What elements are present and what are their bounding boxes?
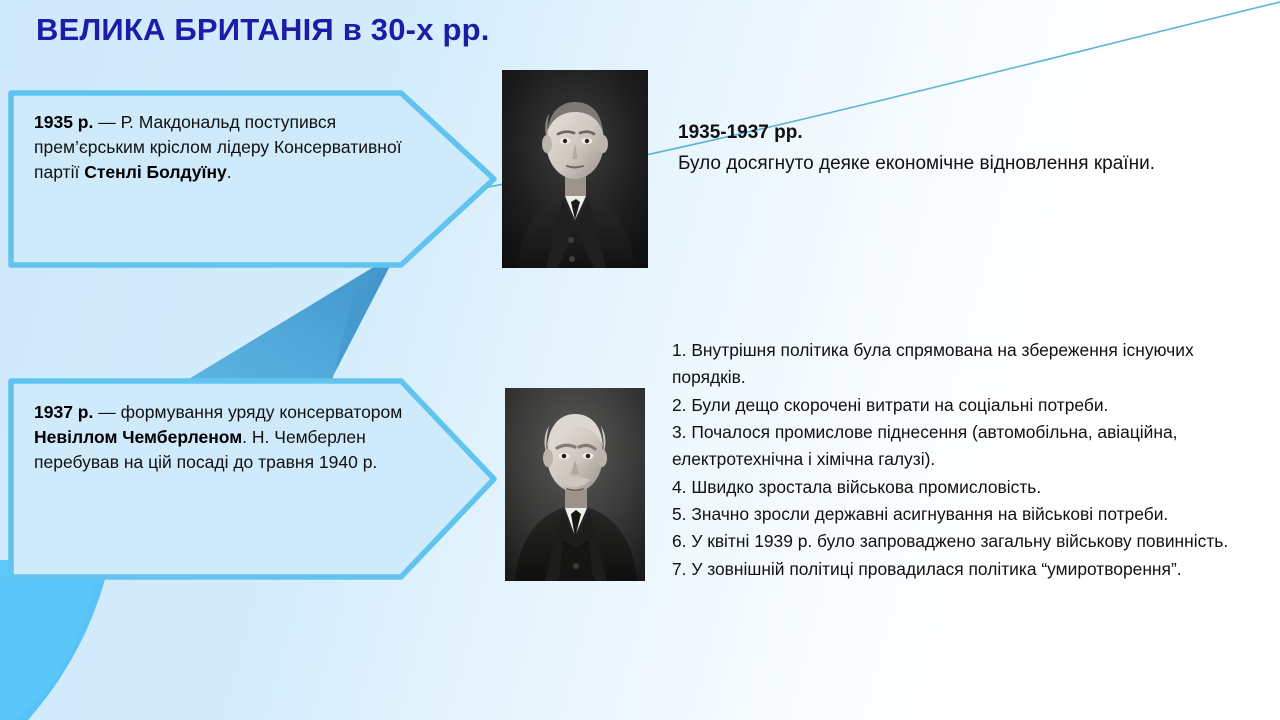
callout-1937[interactable]: 1937 р. — формування уряду консерватором… — [8, 378, 498, 580]
callout-1937-tail: . — [242, 427, 247, 447]
callout-1937-year: 1937 р. — [34, 402, 93, 422]
callout-1935-bold-name: Стенлі Болдуїну — [84, 162, 227, 182]
portrait-stanley-baldwin-image — [502, 70, 648, 268]
swoosh-bottom-left-2 — [0, 575, 96, 720]
portrait-neville-chamberlain-image — [505, 388, 645, 581]
list-item: 5. Значно зросли державні асигнування на… — [672, 501, 1272, 528]
callout-1937-text: 1937 р. — формування уряду консерватором… — [34, 400, 414, 475]
list-item: 1. Внутрішня політика була спрямована на… — [672, 337, 1272, 392]
list-item: 6. У квітні 1939 р. було запроваджено за… — [672, 528, 1272, 555]
callout-1937-dash: — — [98, 402, 116, 422]
right-heading-block: 1935-1937 рр. Було досягнуто деяке еконо… — [678, 118, 1258, 180]
portrait-neville-chamberlain — [505, 388, 645, 581]
slide-canvas: ВЕЛИКА БРИТАНІЯ в 30-х рр. 1935 р. — Р. … — [0, 0, 1280, 720]
callout-1935-dash: — — [98, 112, 116, 132]
callout-1935[interactable]: 1935 р. — Р. Макдональд поступився прем’… — [8, 90, 498, 268]
callout-1935-year: 1935 р. — [34, 112, 93, 132]
list-item: 4. Швидко зростала військова промисловіс… — [672, 474, 1272, 501]
callout-1937-bold-name: Невіллом Чемберленом — [34, 427, 242, 447]
right-heading: 1935-1937 рр. — [678, 122, 803, 143]
list-item: 7. У зовнішній політиці провадилася полі… — [672, 556, 1272, 583]
portrait-stanley-baldwin — [502, 70, 648, 268]
right-list: 1. Внутрішня політика була спрямована на… — [672, 337, 1272, 583]
callout-1935-text: 1935 р. — Р. Макдональд поступився прем’… — [34, 110, 414, 185]
page-title: ВЕЛИКА БРИТАНІЯ в 30-х рр. — [36, 12, 490, 48]
list-item: 2. Були дещо скорочені витрати на соціал… — [672, 392, 1272, 419]
callout-1937-body: формування уряду консерватором — [121, 402, 403, 422]
callout-1935-tail: . — [227, 162, 232, 182]
right-heading-body: Було досягнуто деяке економічне відновле… — [678, 149, 1258, 180]
list-item: 3. Почалося промислове піднесення (автом… — [672, 419, 1272, 474]
